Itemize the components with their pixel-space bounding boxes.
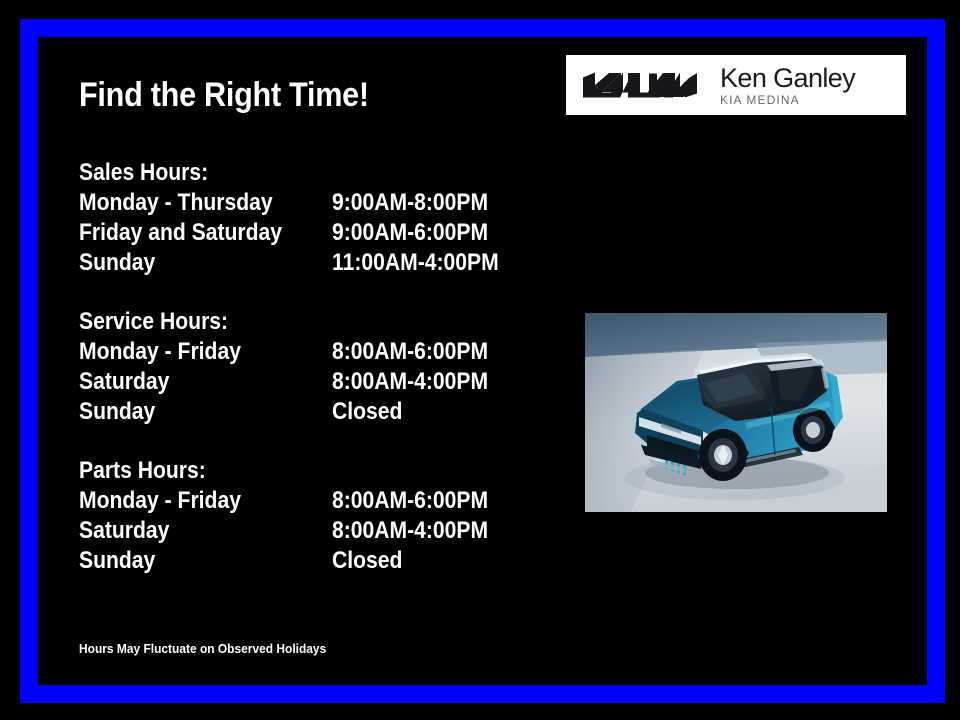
hours-list: Sales Hours: Monday - Thursday 9:00AM-8:… bbox=[79, 158, 539, 605]
hours-day: Saturday bbox=[79, 367, 302, 397]
hours-day: Sunday bbox=[79, 546, 302, 576]
hours-row: Monday - Friday 8:00AM-6:00PM bbox=[79, 486, 539, 516]
hours-day: Sunday bbox=[79, 248, 302, 278]
hours-time: Closed bbox=[332, 397, 402, 427]
page-title: Find the Right Time! bbox=[79, 76, 369, 114]
hours-time: 8:00AM-4:00PM bbox=[332, 516, 488, 546]
slide: Find the Right Time! Sales Hours: Monday… bbox=[0, 0, 960, 720]
hours-time: 9:00AM-8:00PM bbox=[332, 188, 488, 218]
kia-logo-icon bbox=[580, 68, 700, 102]
hours-group-service: Service Hours: Monday - Friday 8:00AM-6:… bbox=[79, 307, 539, 427]
holiday-disclaimer: Hours May Fluctuate on Observed Holidays bbox=[79, 641, 326, 657]
kia-ev9-suv-photo bbox=[585, 313, 887, 512]
hours-group-parts: Parts Hours: Monday - Friday 8:00AM-6:00… bbox=[79, 456, 539, 576]
dealer-logo-card: Ken Ganley KIA MEDINA bbox=[566, 55, 906, 115]
hours-day: Monday - Friday bbox=[79, 337, 302, 367]
hours-time: 9:00AM-6:00PM bbox=[332, 218, 488, 248]
hours-group-heading: Sales Hours: bbox=[79, 158, 484, 188]
hours-row: Saturday 8:00AM-4:00PM bbox=[79, 367, 539, 397]
dealer-subtitle: KIA MEDINA bbox=[720, 93, 855, 107]
hours-row: Friday and Saturday 9:00AM-6:00PM bbox=[79, 218, 539, 248]
hours-row: Monday - Friday 8:00AM-6:00PM bbox=[79, 337, 539, 367]
hours-day: Sunday bbox=[79, 397, 302, 427]
hours-time: Closed bbox=[332, 546, 402, 576]
hours-day: Friday and Saturday bbox=[79, 218, 302, 248]
hours-day: Saturday bbox=[79, 516, 302, 546]
hours-time: 11:00AM-4:00PM bbox=[332, 248, 499, 278]
hours-day: Monday - Thursday bbox=[79, 188, 302, 218]
hours-time: 8:00AM-4:00PM bbox=[332, 367, 488, 397]
dealer-logo-text: Ken Ganley KIA MEDINA bbox=[720, 64, 855, 107]
hours-time: 8:00AM-6:00PM bbox=[332, 486, 488, 516]
hours-row: Saturday 8:00AM-4:00PM bbox=[79, 516, 539, 546]
hours-time: 8:00AM-6:00PM bbox=[332, 337, 488, 367]
hours-row: Sunday Closed bbox=[79, 397, 539, 427]
hours-group-heading: Service Hours: bbox=[79, 307, 484, 337]
hours-group-heading: Parts Hours: bbox=[79, 456, 484, 486]
hours-row: Monday - Thursday 9:00AM-8:00PM bbox=[79, 188, 539, 218]
hours-day: Monday - Friday bbox=[79, 486, 302, 516]
hours-row: Sunday Closed bbox=[79, 546, 539, 576]
dealer-name: Ken Ganley bbox=[720, 64, 855, 92]
vehicle-photo-graphic bbox=[585, 313, 887, 512]
hours-group-sales: Sales Hours: Monday - Thursday 9:00AM-8:… bbox=[79, 158, 539, 278]
hours-row: Sunday 11:00AM-4:00PM bbox=[79, 248, 539, 278]
